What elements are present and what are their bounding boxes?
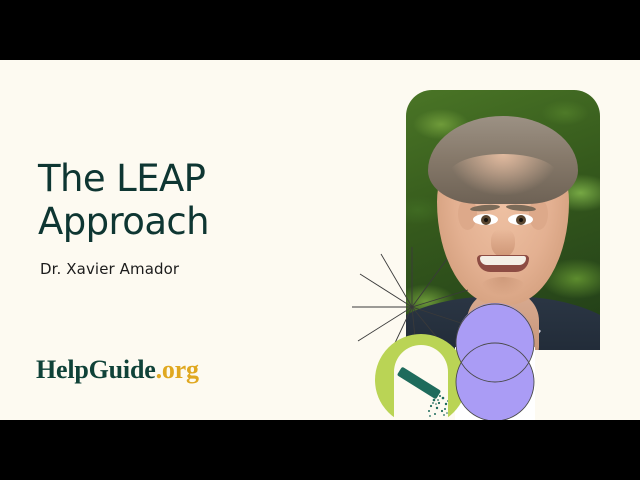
four-petal-flower-icon <box>0 60 640 420</box>
slide-canvas: The LEAP Approach Dr. Xavier Amador Help… <box>0 60 640 420</box>
letterbox-bar-top <box>0 0 640 60</box>
title-card-stage: The LEAP Approach Dr. Xavier Amador Help… <box>0 0 640 480</box>
letterbox-bar-bottom <box>0 420 640 480</box>
